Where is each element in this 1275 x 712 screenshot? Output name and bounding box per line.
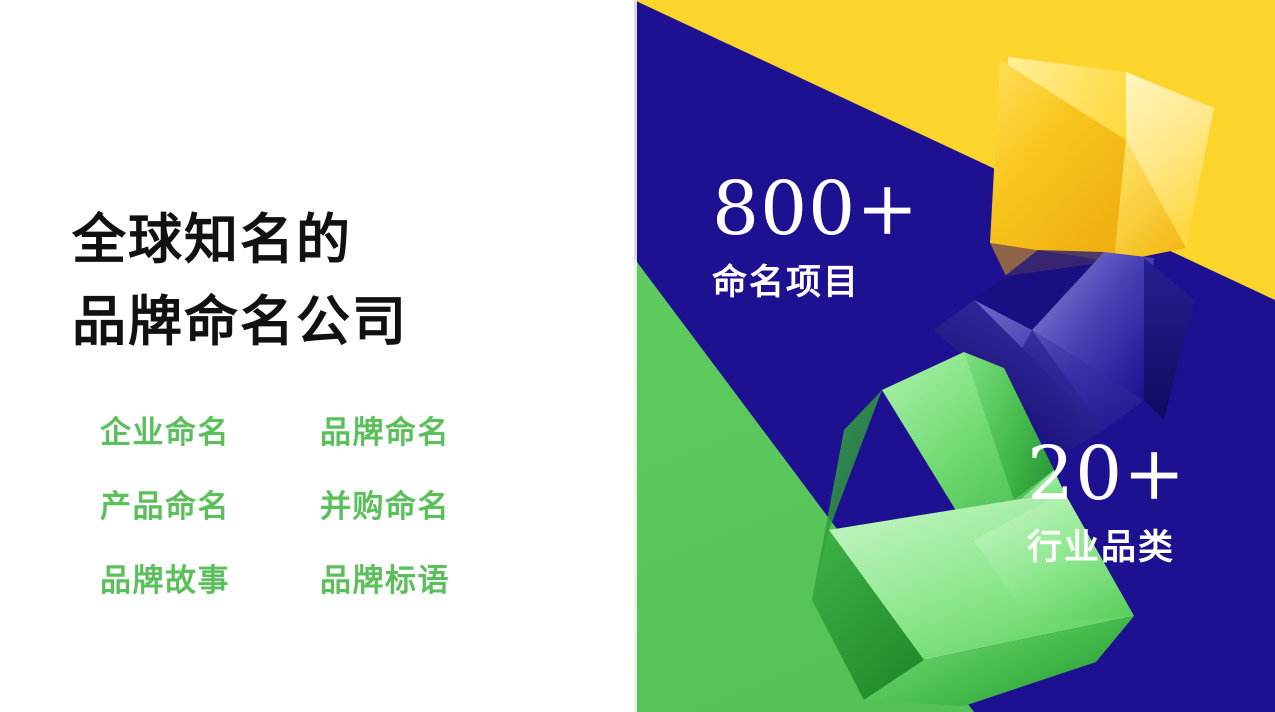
service-item-enterprise-naming[interactable]: 企业命名 [100, 407, 320, 452]
poster-root: 全球知名的 品牌命名公司 企业命名 品牌命名 产品命名 并购命名 品牌故事 品牌… [0, 0, 1275, 712]
abstract-3d-artwork [634, 0, 1275, 712]
page-title: 全球知名的 品牌命名公司 [72, 198, 408, 362]
page-title-line-2: 品牌命名公司 [72, 280, 408, 362]
panel-edge-divider [634, 0, 637, 712]
page-title-line-1: 全球知名的 [72, 198, 408, 280]
stat-naming-projects-label: 命名项目 [712, 266, 919, 301]
stat-naming-projects: 800+ 命名项目 [712, 172, 919, 301]
service-list: 企业命名 品牌命名 产品命名 并购命名 品牌故事 品牌标语 [100, 392, 540, 614]
left-content-panel: 全球知名的 品牌命名公司 企业命名 品牌命名 产品命名 并购命名 品牌故事 品牌… [0, 0, 634, 712]
service-item-brand-naming[interactable]: 品牌命名 [320, 407, 540, 452]
right-graphic-panel: 800+ 命名项目 20+ 行业品类 [634, 0, 1275, 712]
stat-industry-categories-label: 行业品类 [1027, 531, 1186, 566]
stat-naming-projects-number: 800+ [712, 172, 919, 246]
service-item-brand-story[interactable]: 品牌故事 [100, 555, 320, 600]
stat-industry-categories-number: 20+ [1027, 437, 1186, 511]
stat-industry-categories: 20+ 行业品类 [1027, 437, 1186, 566]
service-item-brand-slogan[interactable]: 品牌标语 [320, 555, 540, 600]
service-item-ma-naming[interactable]: 并购命名 [320, 481, 540, 526]
service-item-product-naming[interactable]: 产品命名 [100, 481, 320, 526]
